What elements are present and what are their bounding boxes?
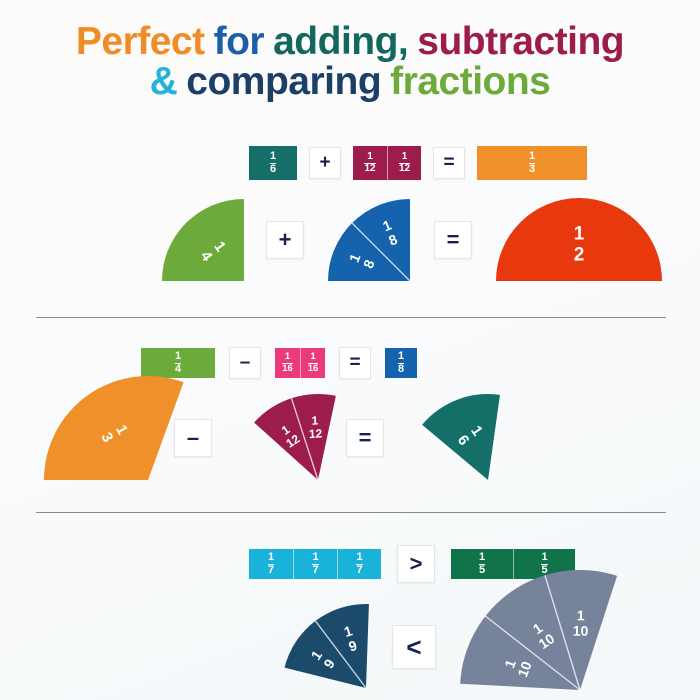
- fraction-numerator: 1: [268, 552, 274, 563]
- section-divider: [36, 512, 666, 513]
- fraction-cell[interactable]: 16: [249, 146, 297, 180]
- fraction-denominator: 3: [529, 163, 535, 175]
- fraction-denominator: 12: [399, 163, 410, 174]
- sector-body: [162, 199, 244, 281]
- fraction-denominator: 5: [479, 564, 485, 576]
- fraction-numerator: 1: [529, 151, 535, 162]
- fraction-denominator: 6: [270, 163, 276, 175]
- fraction-label: 12: [572, 223, 586, 265]
- sector-two-ninths[interactable]: 1919: [288, 606, 366, 688]
- addition-bars-row: 16+112112=13: [249, 146, 587, 180]
- fraction-label: 14: [175, 351, 181, 375]
- equals-operator[interactable]: =: [434, 221, 472, 259]
- tile-one-third[interactable]: 13: [477, 146, 587, 180]
- sector-two-eighths[interactable]: 1818: [328, 199, 410, 281]
- fraction-numerator: 1: [311, 413, 319, 427]
- fraction-numerator: 1: [285, 352, 290, 362]
- fraction-numerator: 1: [541, 552, 547, 563]
- plus-operator[interactable]: +: [309, 147, 341, 179]
- fraction-numerator: 1: [175, 351, 181, 362]
- fraction-label: 17: [356, 552, 362, 576]
- section-divider: [36, 317, 666, 318]
- fraction-denominator: 12: [364, 163, 375, 174]
- fraction-label: 112: [364, 152, 375, 174]
- title-word: for: [214, 20, 265, 63]
- fraction-label: 17: [312, 552, 318, 576]
- fraction-denominator: 7: [356, 564, 362, 576]
- title-line-1: Perfectforadding,subtracting: [0, 22, 700, 62]
- title-word: &: [150, 60, 178, 103]
- fraction-label: 13: [529, 151, 535, 175]
- sector-three-tenths[interactable]: 110110110: [462, 604, 580, 690]
- fraction-denominator: 12: [309, 426, 323, 441]
- fraction-denominator: 5: [541, 564, 547, 576]
- equals-operator[interactable]: =: [346, 419, 384, 457]
- fraction-numerator: 1: [312, 552, 318, 563]
- fraction-numerator: 1: [270, 151, 276, 162]
- fraction-label: 16: [270, 151, 276, 175]
- title-word: Perfect: [76, 20, 205, 63]
- fraction-label: 18: [398, 351, 404, 375]
- comparison-bars-row: 171717>1515: [249, 545, 575, 583]
- fraction-label: 17: [268, 552, 274, 576]
- equals-operator[interactable]: =: [339, 347, 371, 379]
- less-than-operator[interactable]: <: [392, 625, 436, 669]
- fraction-denominator: 4: [175, 363, 181, 375]
- fraction-denominator: 10: [573, 623, 589, 639]
- fraction-cell[interactable]: 112: [353, 146, 387, 180]
- fraction-numerator: 1: [574, 223, 585, 244]
- fraction-denominator: 2: [574, 244, 585, 265]
- fraction-label: 116: [282, 352, 293, 373]
- fraction-cell[interactable]: 17: [337, 549, 381, 579]
- fraction-denominator: 7: [268, 564, 274, 576]
- fraction-denominator: 7: [312, 564, 318, 576]
- title-word: fractions: [390, 60, 550, 103]
- fraction-numerator: 1: [479, 552, 485, 563]
- subtraction-sectors-row: 13–112112=16: [40, 396, 488, 480]
- sector-one-sixth[interactable]: 16: [412, 396, 488, 480]
- fraction-cell[interactable]: 116: [275, 348, 300, 378]
- subtraction-bars-row: 14–116116=18: [141, 347, 417, 379]
- title-word: subtracting: [417, 20, 624, 63]
- tile-two-sixteenths[interactable]: 116116: [275, 348, 325, 378]
- fraction-label: 116: [308, 352, 319, 373]
- fraction-label: 112: [399, 152, 410, 174]
- fraction-cell[interactable]: 14: [141, 348, 215, 378]
- page-title: Perfectforadding,subtracting &comparingf…: [0, 22, 700, 102]
- fraction-numerator: 1: [356, 552, 362, 563]
- sector-one-half[interactable]: 12: [496, 198, 662, 281]
- fraction-denominator: 8: [398, 363, 404, 375]
- tile-one-sixth[interactable]: 16: [249, 146, 297, 180]
- fraction-numerator: 1: [577, 607, 585, 623]
- title-line-2: &comparingfractions: [0, 62, 700, 102]
- comparison-sectors-row: 1919<110110110: [288, 604, 580, 690]
- sector-body: [44, 376, 184, 480]
- fraction-cell[interactable]: 17: [249, 549, 293, 579]
- sector-one-third[interactable]: 13: [40, 396, 148, 480]
- fraction-label: 15: [541, 552, 547, 576]
- tile-three-sevenths[interactable]: 171717: [249, 549, 381, 579]
- fraction-denominator: 16: [308, 363, 319, 374]
- fraction-denominator: 16: [282, 363, 293, 374]
- fraction-numerator: 1: [398, 351, 404, 362]
- greater-than-operator[interactable]: >: [397, 545, 435, 583]
- fraction-cell[interactable]: 18: [385, 348, 417, 378]
- title-word: comparing: [186, 60, 381, 103]
- fraction-numerator: 1: [367, 152, 373, 162]
- fraction-cell[interactable]: 17: [293, 549, 337, 579]
- fraction-cell[interactable]: 15: [451, 549, 513, 579]
- addition-sectors-row: 14+1818=12: [162, 198, 662, 281]
- sector-two-twelfths[interactable]: 112112: [240, 396, 318, 480]
- fraction-numerator: 1: [402, 152, 408, 162]
- minus-operator[interactable]: –: [229, 347, 261, 379]
- sector-one-quarter[interactable]: 14: [162, 199, 244, 281]
- fraction-label: 15: [479, 552, 485, 576]
- fraction-cell[interactable]: 116: [300, 348, 325, 378]
- tile-two-twelfths[interactable]: 112112: [353, 146, 421, 180]
- fraction-numerator: 1: [310, 352, 315, 362]
- fraction-cell[interactable]: 112: [387, 146, 421, 180]
- fraction-cell[interactable]: 13: [477, 146, 587, 180]
- tile-one-quarter[interactable]: 14: [141, 348, 215, 378]
- equals-operator[interactable]: =: [433, 147, 465, 179]
- tile-one-eighth[interactable]: 18: [385, 348, 417, 378]
- title-word: adding,: [273, 20, 408, 63]
- plus-operator[interactable]: +: [266, 221, 304, 259]
- minus-operator[interactable]: –: [174, 419, 212, 457]
